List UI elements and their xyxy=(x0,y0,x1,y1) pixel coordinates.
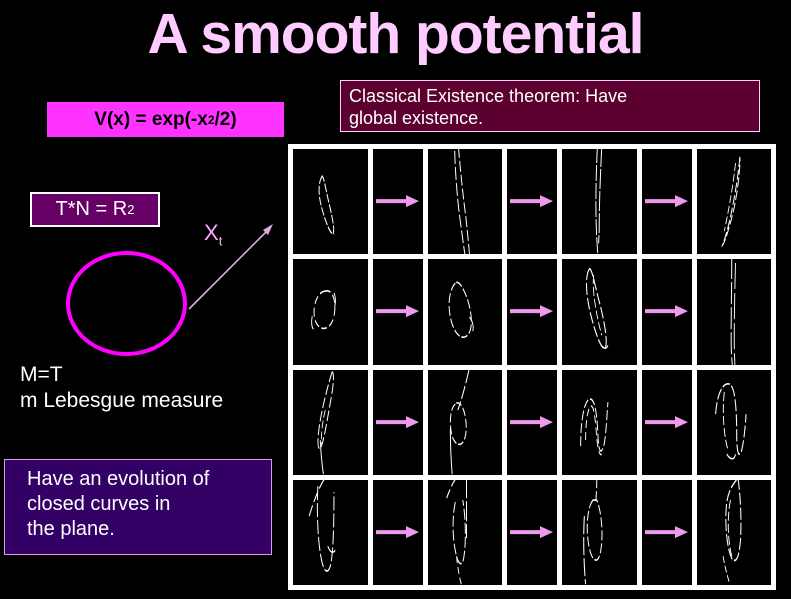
curve-evolution-grid xyxy=(288,144,776,590)
grid-row xyxy=(293,149,771,254)
arrow-separator xyxy=(642,480,692,585)
arrow-separator xyxy=(373,259,423,364)
arrow-separator xyxy=(642,370,692,475)
classical-line-1: Classical Existence theorem: Have xyxy=(349,85,751,107)
arrow-separator xyxy=(373,149,423,254)
arrow-separator xyxy=(507,480,557,585)
curve-panel xyxy=(293,149,368,254)
curve-panel xyxy=(697,370,772,475)
grid-row xyxy=(293,370,771,475)
circle-shape xyxy=(66,251,187,356)
page-title: A smooth potential xyxy=(0,2,791,66)
measure-text: M=T m Lebesgue measure xyxy=(20,362,290,414)
formula-box: V(x) = exp(-x 2/2) xyxy=(47,102,284,137)
curve-panel xyxy=(562,480,637,585)
curve-panel xyxy=(562,370,637,475)
arrow-separator xyxy=(507,149,557,254)
curve-panel xyxy=(697,259,772,364)
arrow-separator xyxy=(507,259,557,364)
slide-canvas: A smooth potential V(x) = exp(-x 2/2) Cl… xyxy=(0,0,791,599)
arrow-separator xyxy=(373,370,423,475)
measure-line-2: m Lebesgue measure xyxy=(20,388,290,414)
tn-exponent: 2 xyxy=(127,202,134,217)
tn-text: T*N = R xyxy=(56,198,128,221)
arrow-separator xyxy=(507,370,557,475)
measure-line-1: M=T xyxy=(20,362,290,388)
classical-existence-box: Classical Existence theorem: Have global… xyxy=(340,80,760,132)
curve-panel xyxy=(428,480,503,585)
evolution-line-2: closed curves in xyxy=(27,492,271,517)
classical-line-2: global existence. xyxy=(349,107,751,129)
arrow-separator xyxy=(642,149,692,254)
curve-panel xyxy=(293,370,368,475)
grid-row xyxy=(293,259,771,364)
curve-panel xyxy=(697,149,772,254)
formula-exponent: 2 xyxy=(208,113,215,127)
xt-pointer-arrow xyxy=(185,218,280,313)
tangent-bundle-box: T*N = R2 xyxy=(30,192,160,227)
arrow-separator xyxy=(642,259,692,364)
formula-text-before: V(x) = exp(-x xyxy=(94,109,208,131)
curve-panel xyxy=(428,259,503,364)
arrow-separator xyxy=(373,480,423,585)
curve-panel xyxy=(428,370,503,475)
curve-panel xyxy=(293,259,368,364)
curve-panel xyxy=(697,480,772,585)
evolution-line-3: the plane. xyxy=(27,517,271,542)
evolution-line-1: Have an evolution of xyxy=(27,467,271,492)
formula-text-after: /2) xyxy=(215,109,237,131)
curve-panel xyxy=(293,480,368,585)
evolution-box: Have an evolution of closed curves in th… xyxy=(4,459,272,555)
curve-panel xyxy=(562,149,637,254)
curve-panel xyxy=(562,259,637,364)
grid-row xyxy=(293,480,771,585)
curve-panel xyxy=(428,149,503,254)
